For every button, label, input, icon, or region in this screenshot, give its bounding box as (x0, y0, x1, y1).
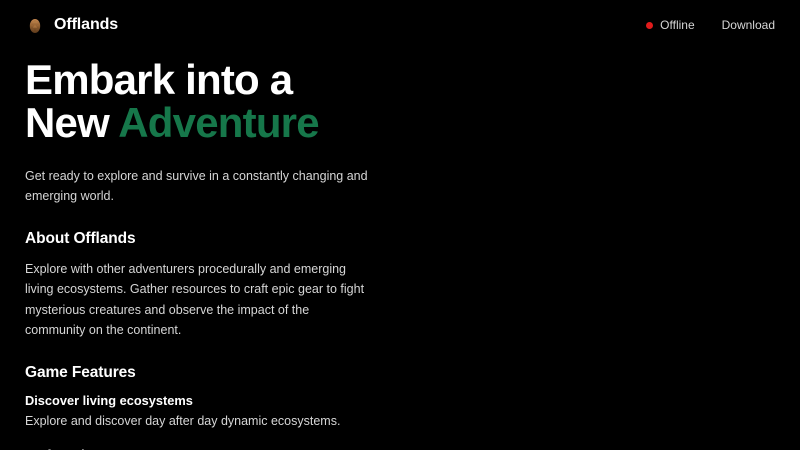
feature-item: Discover living ecosystems Explore and d… (25, 393, 775, 431)
features-heading: Game Features (25, 364, 775, 382)
feature-body: Explore and discover day after day dynam… (25, 411, 375, 431)
status-dot-icon (646, 22, 653, 29)
brand-name: Offlands (54, 16, 118, 34)
main-nav: Offline Download (646, 18, 775, 32)
status-label: Offline (660, 18, 694, 32)
about-section: About Offlands Explore with other advent… (25, 230, 775, 340)
about-body: Explore with other adventurers procedura… (25, 259, 365, 340)
features-section: Game Features Discover living ecosystems… (25, 364, 775, 450)
hero-title-line2-plain: New (25, 99, 118, 146)
pinecone-icon (25, 15, 45, 35)
main-content: Embark into a New Adventure Get ready to… (0, 50, 800, 450)
feature-title: Discover living ecosystems (25, 393, 775, 408)
nav-link-download[interactable]: Download (722, 18, 775, 32)
hero-title-accent: Adventure (118, 99, 319, 146)
hero-title-line1: Embark into a (25, 56, 292, 103)
site-header: Offlands Offline Download (0, 0, 800, 50)
hero-subtitle: Get ready to explore and survive in a co… (25, 166, 380, 207)
about-heading: About Offlands (25, 230, 775, 248)
hero-title: Embark into a New Adventure (25, 59, 775, 145)
brand[interactable]: Offlands (25, 15, 118, 35)
page-root: Offlands Offline Download Embark into a … (0, 0, 800, 450)
server-status: Offline (646, 18, 694, 32)
